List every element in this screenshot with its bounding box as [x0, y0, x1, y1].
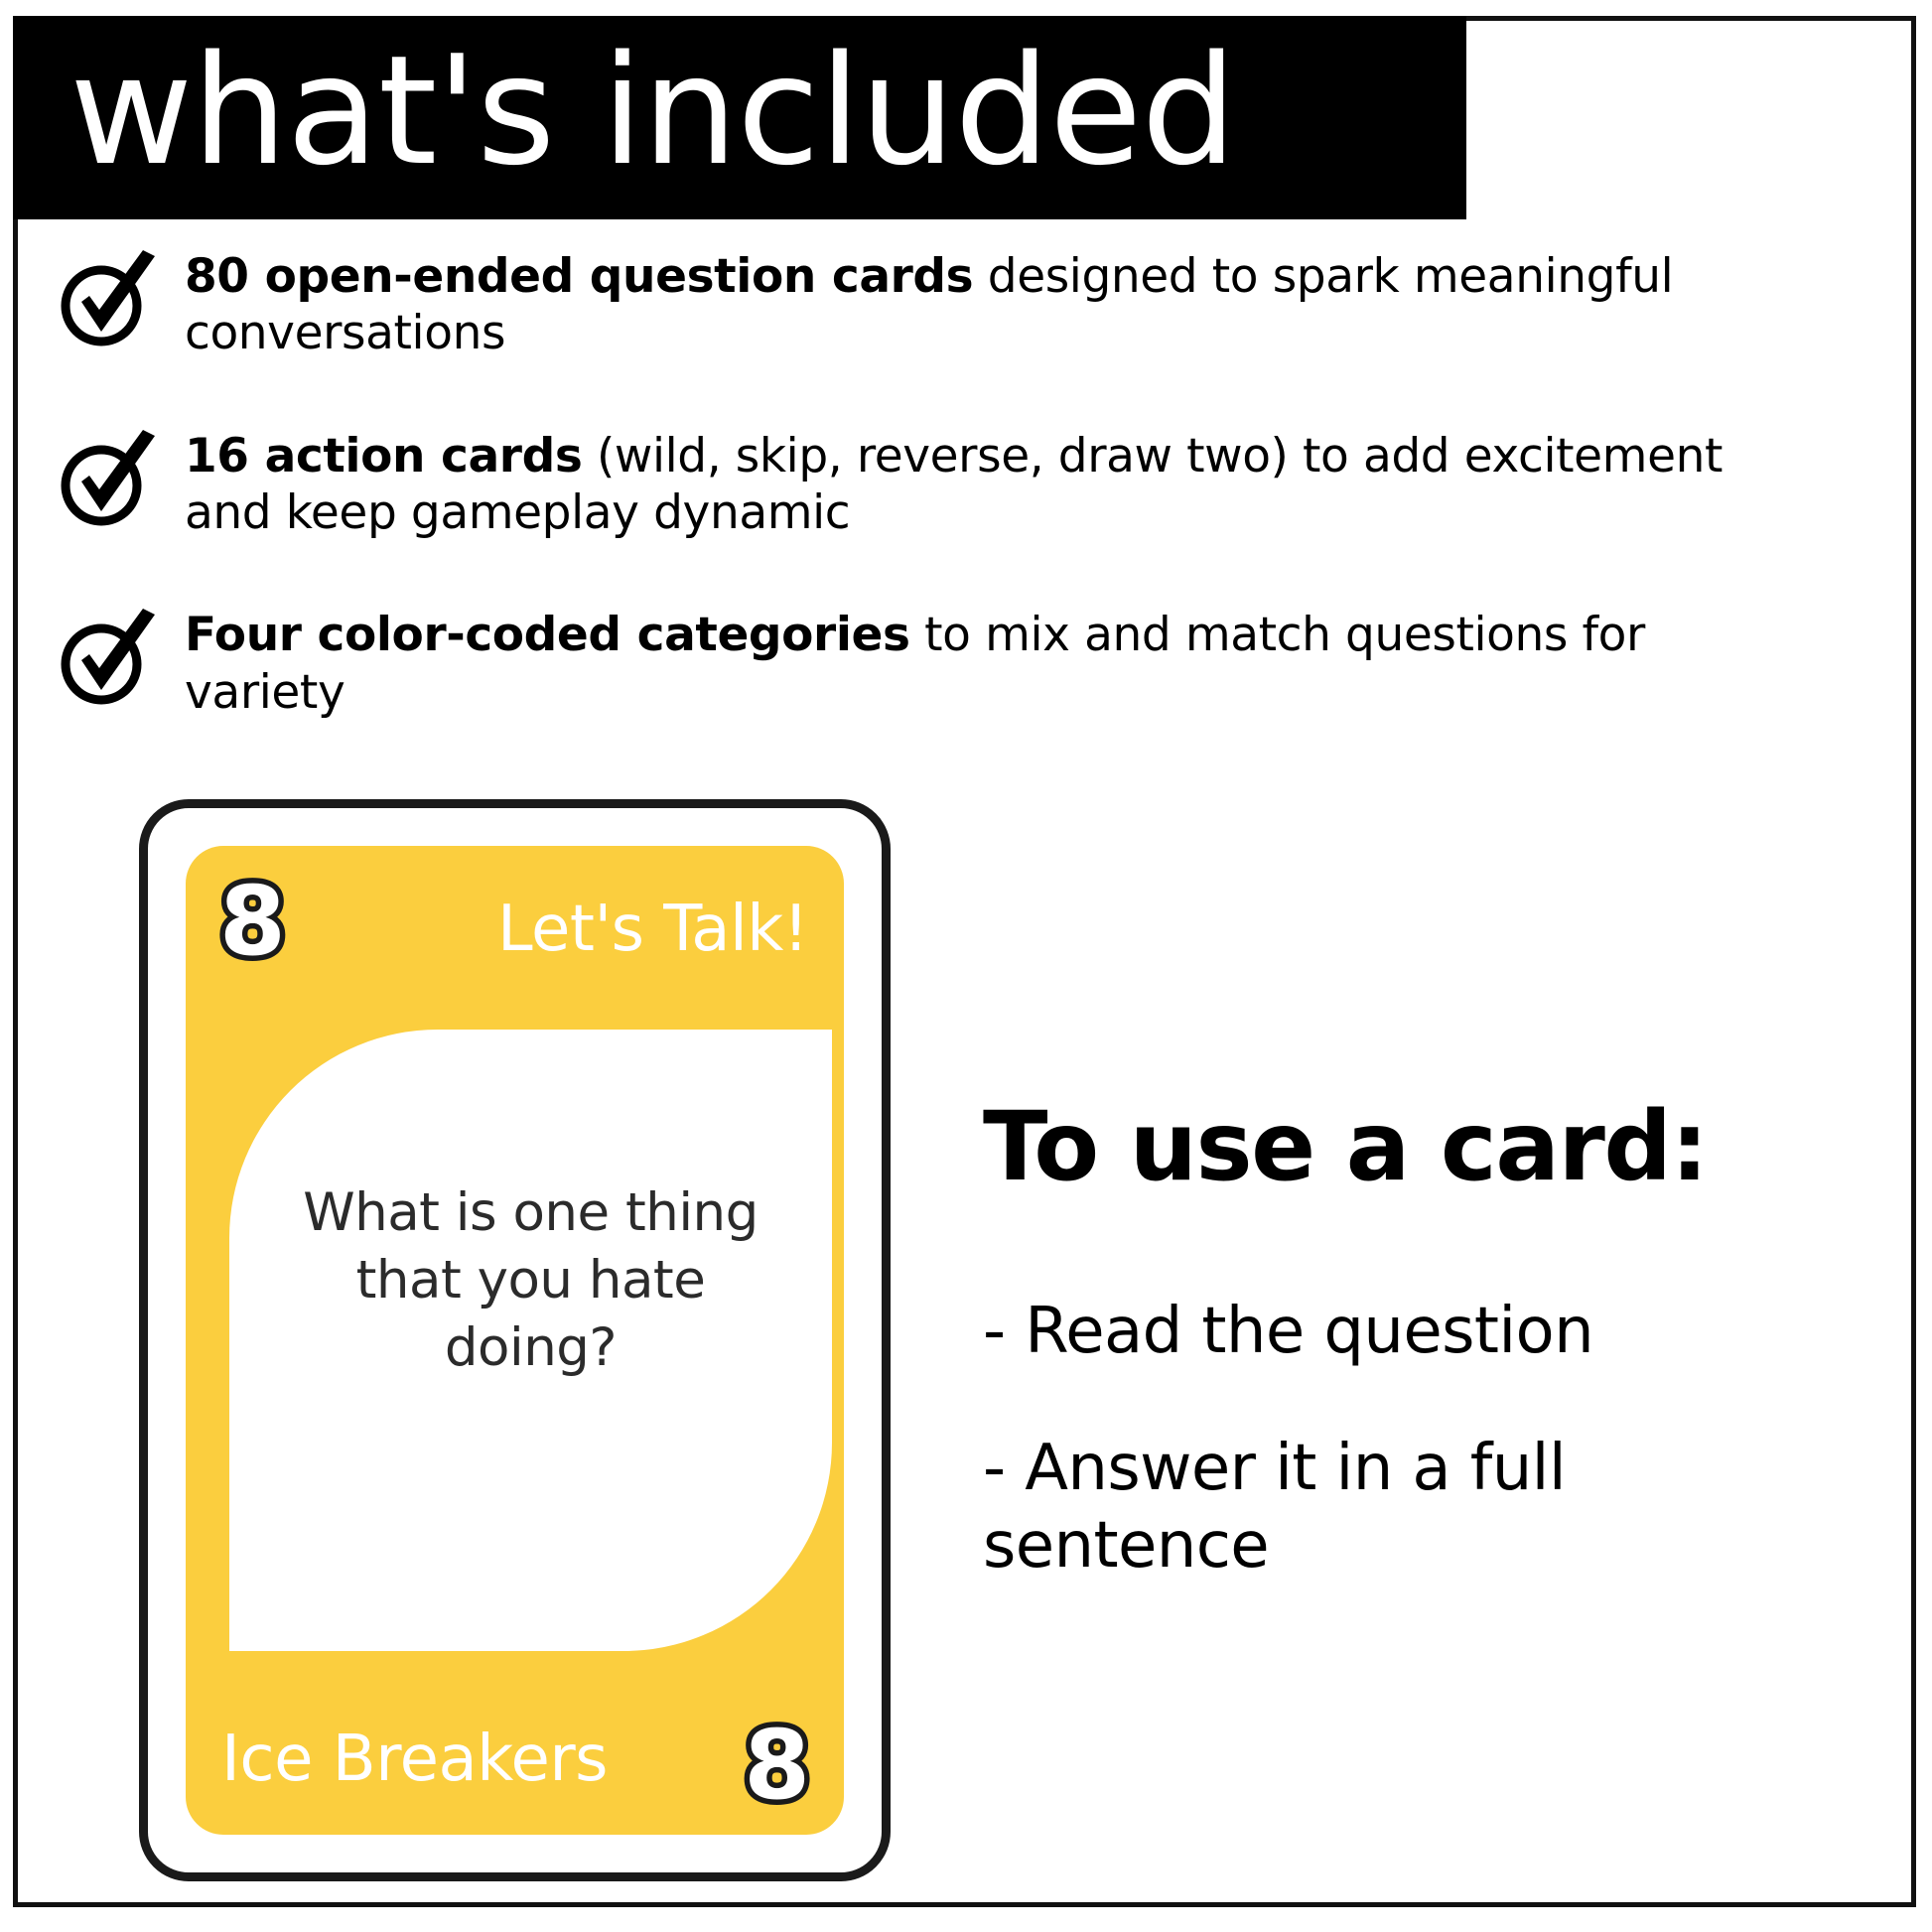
card-question-text: What is one thing that you hate doing? — [229, 1179, 832, 1381]
card-color-panel: What is one thing that you hate doing? 8… — [186, 846, 844, 1835]
check-circle-icon — [52, 424, 163, 531]
sample-question-card: What is one thing that you hate doing? 8… — [139, 799, 891, 1881]
header-banner: what's included — [13, 16, 1466, 219]
list-item-bold: 16 action cards — [185, 429, 582, 483]
poster-page: what's included 80 open-ended question c… — [0, 0, 1932, 1932]
instruction-step: - Answer it in a full sentence — [983, 1430, 1857, 1585]
card-category-label-bottom: Ice Breakers — [221, 1727, 608, 1791]
included-items-list: 80 open-ended question cards designed to… — [52, 248, 1839, 786]
card-number-top-left: 8 — [219, 874, 286, 969]
list-item: Four color-coded categories to mix and m… — [52, 607, 1839, 721]
instructions-section: To use a card: - Read the question - Ans… — [983, 1097, 1857, 1644]
list-item-bold: 80 open-ended question cards — [185, 249, 973, 304]
page-title: what's included — [69, 36, 1236, 187]
card-category-label-top: Let's Talk! — [497, 897, 808, 961]
check-circle-icon — [52, 244, 163, 351]
list-item-text: 80 open-ended question cards designed to… — [163, 248, 1839, 362]
list-item-bold: Four color-coded categories — [185, 608, 910, 662]
list-item: 80 open-ended question cards designed to… — [52, 248, 1839, 362]
instructions-heading: To use a card: — [983, 1097, 1857, 1197]
instruction-step: - Read the question — [983, 1293, 1857, 1370]
list-item-text: 16 action cards (wild, skip, reverse, dr… — [163, 428, 1839, 542]
card-question-window: What is one thing that you hate doing? — [229, 1030, 832, 1651]
card-number-bottom-right: 8 — [744, 1718, 810, 1813]
list-item: 16 action cards (wild, skip, reverse, dr… — [52, 428, 1839, 542]
check-circle-icon — [52, 603, 163, 710]
list-item-text: Four color-coded categories to mix and m… — [163, 607, 1839, 721]
